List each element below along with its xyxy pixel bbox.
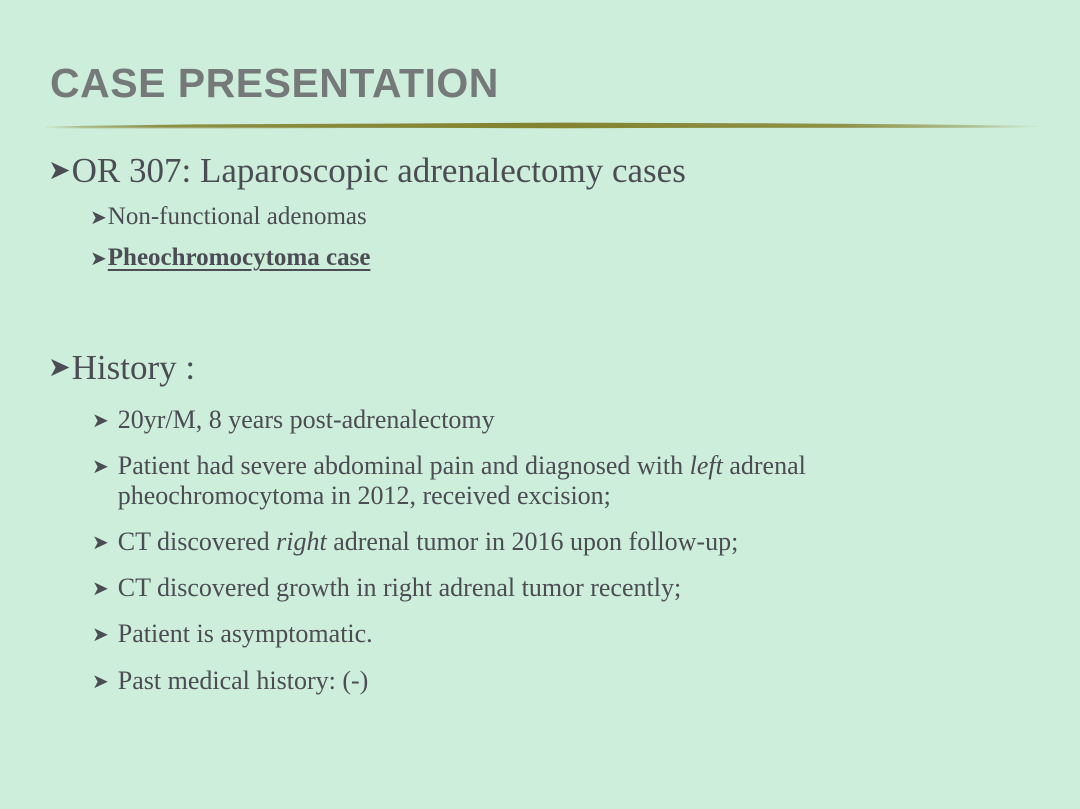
section-spacer — [0, 273, 1080, 347]
slide: CASE PRESENTATION ➤ OR 307: Laparoscopic… — [0, 0, 1080, 809]
bullet-history-item-2: ➤ CT discovered right adrenal tumor in 2… — [0, 527, 1080, 557]
bullet-pheochromocytoma-case: ➤ Pheochromocytoma case — [0, 243, 1080, 273]
arrow-bullet-icon: ➤ — [90, 243, 107, 268]
arrow-bullet-icon: ➤ — [92, 527, 109, 552]
text-pre: Patient had severe abdominal pain and di… — [118, 451, 690, 480]
bullet-history-item-3: ➤ CT discovered growth in right adrenal … — [0, 573, 1080, 603]
arrow-bullet-icon: ➤ — [48, 347, 71, 381]
arrow-bullet-icon: ➤ — [92, 619, 109, 644]
bullet-history-item-4: ➤ Patient is asymptomatic. — [0, 619, 1080, 649]
arrow-bullet-icon: ➤ — [92, 666, 109, 691]
bullet-history-item-5: ➤ Past medical history: (-) — [0, 666, 1080, 696]
bullet-history-label: History : — [72, 347, 1080, 388]
text-post: adrenal tumor in 2016 upon follow-up; — [327, 527, 739, 556]
text-pre: CT discovered growth in right adrenal tu… — [118, 573, 681, 602]
bullet-history-item-0: ➤ 20yr/M, 8 years post-adrenalectomy — [0, 405, 1080, 435]
title-divider — [46, 118, 1038, 132]
bullet-history-item-4-label: Patient is asymptomatic. — [118, 619, 1010, 649]
arrow-bullet-icon: ➤ — [92, 405, 109, 430]
slide-body: ➤ OR 307: Laparoscopic adrenalectomy cas… — [0, 150, 1080, 696]
bullet-history-item-5-label: Past medical history: (-) — [118, 666, 1010, 696]
text-pre: 20yr/M, 8 years post-adrenalectomy — [118, 405, 495, 434]
arrow-bullet-icon: ➤ — [48, 150, 71, 184]
bullet-or-307: ➤ OR 307: Laparoscopic adrenalectomy cas… — [0, 150, 1080, 191]
bullet-history: ➤ History : — [0, 347, 1080, 388]
bullet-pheochromocytoma-case-label: Pheochromocytoma case — [108, 243, 1080, 273]
text-italic: right — [276, 527, 327, 556]
bullet-history-item-1: ➤ Patient had severe abdominal pain and … — [0, 451, 1080, 511]
bullet-non-functional-adenomas-label: Non-functional adenomas — [108, 202, 1080, 232]
bullet-history-item-1-label: Patient had severe abdominal pain and di… — [118, 451, 1010, 511]
text-pre: Patient is asymptomatic. — [118, 619, 373, 648]
page-title: CASE PRESENTATION — [50, 62, 499, 105]
text-pre: CT discovered — [118, 527, 276, 556]
text-pre: Past medical history: (-) — [118, 666, 369, 695]
text-italic: left — [690, 451, 723, 480]
bullet-history-item-2-label: CT discovered right adrenal tumor in 201… — [118, 527, 1010, 557]
arrow-bullet-icon: ➤ — [92, 573, 109, 598]
bullet-history-item-0-label: 20yr/M, 8 years post-adrenalectomy — [118, 405, 1010, 435]
bullet-or-307-label: OR 307: Laparoscopic adrenalectomy cases — [72, 150, 1080, 191]
arrow-bullet-icon: ➤ — [92, 451, 109, 476]
bullet-history-item-3-label: CT discovered growth in right adrenal tu… — [118, 573, 1010, 603]
arrow-bullet-icon: ➤ — [90, 202, 107, 227]
bullet-non-functional-adenomas: ➤ Non-functional adenomas — [0, 202, 1080, 232]
